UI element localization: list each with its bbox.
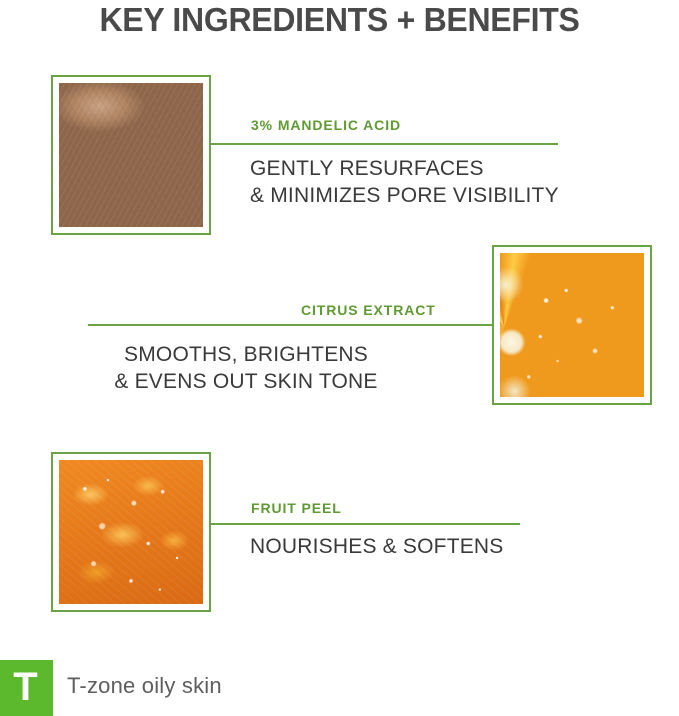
ingredient-image-fruit-peel xyxy=(51,452,211,612)
ingredient-image-citrus xyxy=(492,245,652,405)
ingredient-image-almonds xyxy=(51,75,211,235)
connector-rule-3 xyxy=(211,523,520,525)
footer-skin-type-label: T-zone oily skin xyxy=(67,672,222,700)
ingredient-benefit-1-line-1: GENTLY RESURFACES xyxy=(250,155,484,182)
orange-slice-photo xyxy=(500,253,644,397)
badge-letter: T xyxy=(13,665,37,709)
ingredient-name-3: FRUIT PEEL xyxy=(251,499,342,517)
t-zone-badge: T xyxy=(0,660,53,716)
ingredient-name-1: 3% MANDELIC ACID xyxy=(251,116,401,134)
ingredient-benefit-2-line-1: SMOOTHS, BRIGHTENS xyxy=(0,341,492,368)
connector-rule-1 xyxy=(211,143,558,145)
ingredient-benefit-1-line-2: & MINIMIZES PORE VISIBILITY xyxy=(250,182,559,209)
connector-rule-2 xyxy=(88,324,493,326)
almonds-photo xyxy=(59,83,203,227)
fruit-peel-photo xyxy=(59,460,203,604)
ingredient-benefit-3-line-1: NOURISHES & SOFTENS xyxy=(250,533,504,560)
page-title: KEY INGREDIENTS + BENEFITS xyxy=(10,0,669,40)
ingredient-name-2: CITRUS EXTRACT xyxy=(301,301,436,319)
ingredient-benefit-2-line-2: & EVENS OUT SKIN TONE xyxy=(0,368,492,395)
